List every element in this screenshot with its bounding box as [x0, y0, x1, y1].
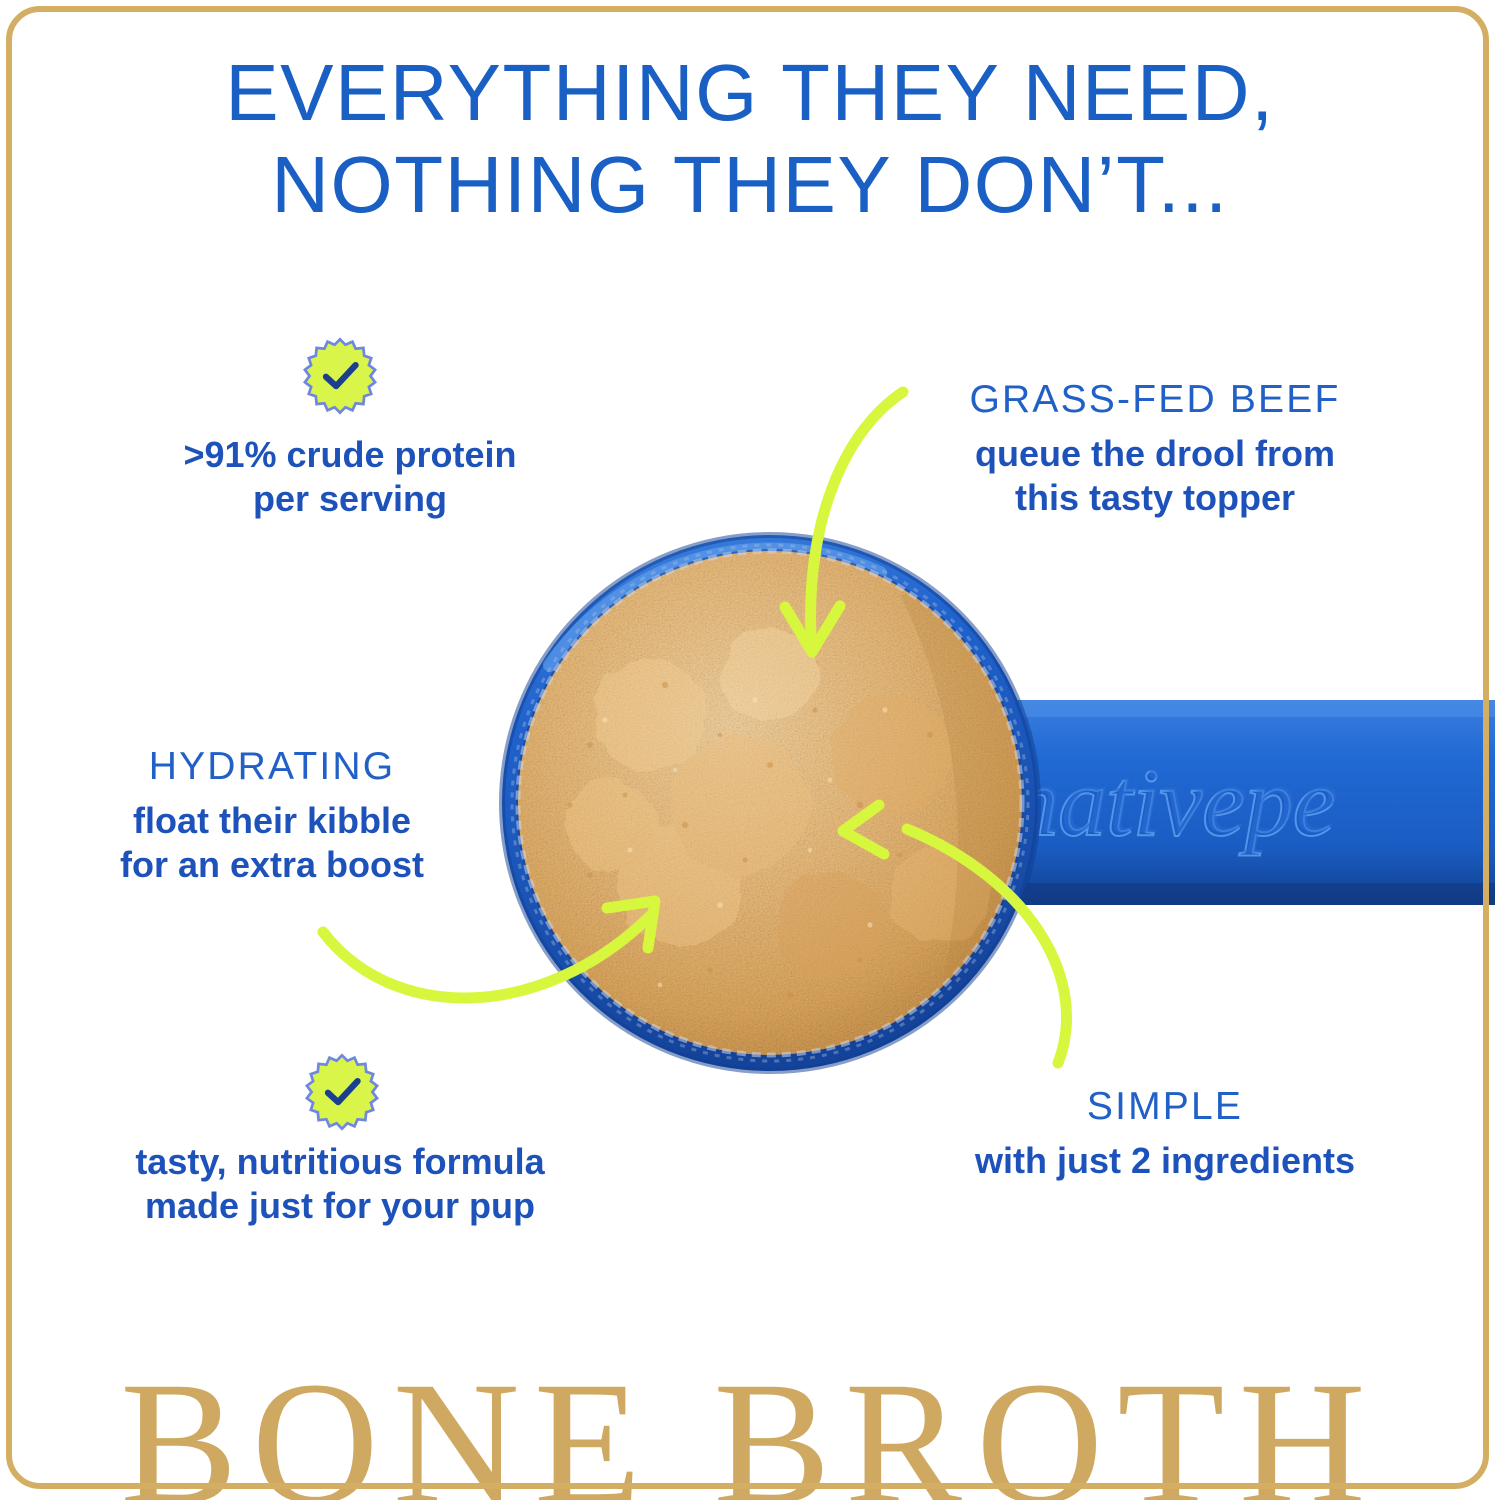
check-badge-icon — [303, 1053, 381, 1131]
callout-tasty-formula-line-1: tasty, nutritious formula — [80, 1140, 600, 1184]
product-wordmark: BONE BROTH — [0, 1356, 1500, 1500]
callout-grass-fed-beef: GRASS-FED BEEF queue the drool from this… — [905, 378, 1405, 520]
callout-hydrating-title: HYDRATING — [42, 745, 502, 789]
callout-tasty-formula: tasty, nutritious formula made just for … — [80, 1140, 600, 1228]
check-badge-icon — [301, 337, 379, 415]
callout-tasty-formula-body: tasty, nutritious formula made just for … — [80, 1140, 600, 1228]
check-badge-protein — [301, 337, 379, 415]
callout-simple: SIMPLE with just 2 ingredients — [930, 1085, 1400, 1183]
callout-protein-line-1: >91% crude protein — [100, 433, 600, 477]
headline-line-2: NOTHING THEY DON’T... — [0, 144, 1500, 226]
callout-hydrating-line-2: for an extra boost — [42, 843, 502, 887]
callout-grass-fed-beef-line-2: this tasty topper — [905, 476, 1405, 520]
callout-hydrating-body: float their kibble for an extra boost — [42, 799, 502, 887]
infographic-canvas: nativepe nativepe — [0, 0, 1500, 1500]
callout-grass-fed-beef-title: GRASS-FED BEEF — [905, 378, 1405, 422]
callout-grass-fed-beef-body: queue the drool from this tasty topper — [905, 432, 1405, 520]
product-photo-scoop: nativepe nativepe — [470, 505, 1495, 1105]
svg-text:nativepe: nativepe — [1013, 746, 1338, 853]
callout-simple-line-1: with just 2 ingredients — [930, 1139, 1400, 1183]
callout-simple-title: SIMPLE — [930, 1085, 1400, 1129]
callout-hydrating-line-1: float their kibble — [42, 799, 502, 843]
callout-simple-body: with just 2 ingredients — [930, 1139, 1400, 1183]
headline-line-1: EVERYTHING THEY NEED, — [0, 52, 1500, 134]
callout-tasty-formula-line-2: made just for your pup — [80, 1184, 600, 1228]
scoop-bowl — [502, 535, 1070, 1071]
callout-hydrating: HYDRATING float their kibble for an extr… — [42, 745, 502, 887]
callout-protein: >91% crude protein per serving — [100, 433, 600, 521]
callout-protein-line-2: per serving — [100, 477, 600, 521]
callout-protein-body: >91% crude protein per serving — [100, 433, 600, 521]
check-badge-tasty-formula — [303, 1053, 381, 1131]
headline: EVERYTHING THEY NEED, NOTHING THEY DON’T… — [0, 52, 1500, 225]
callout-grass-fed-beef-line-1: queue the drool from — [905, 432, 1405, 476]
